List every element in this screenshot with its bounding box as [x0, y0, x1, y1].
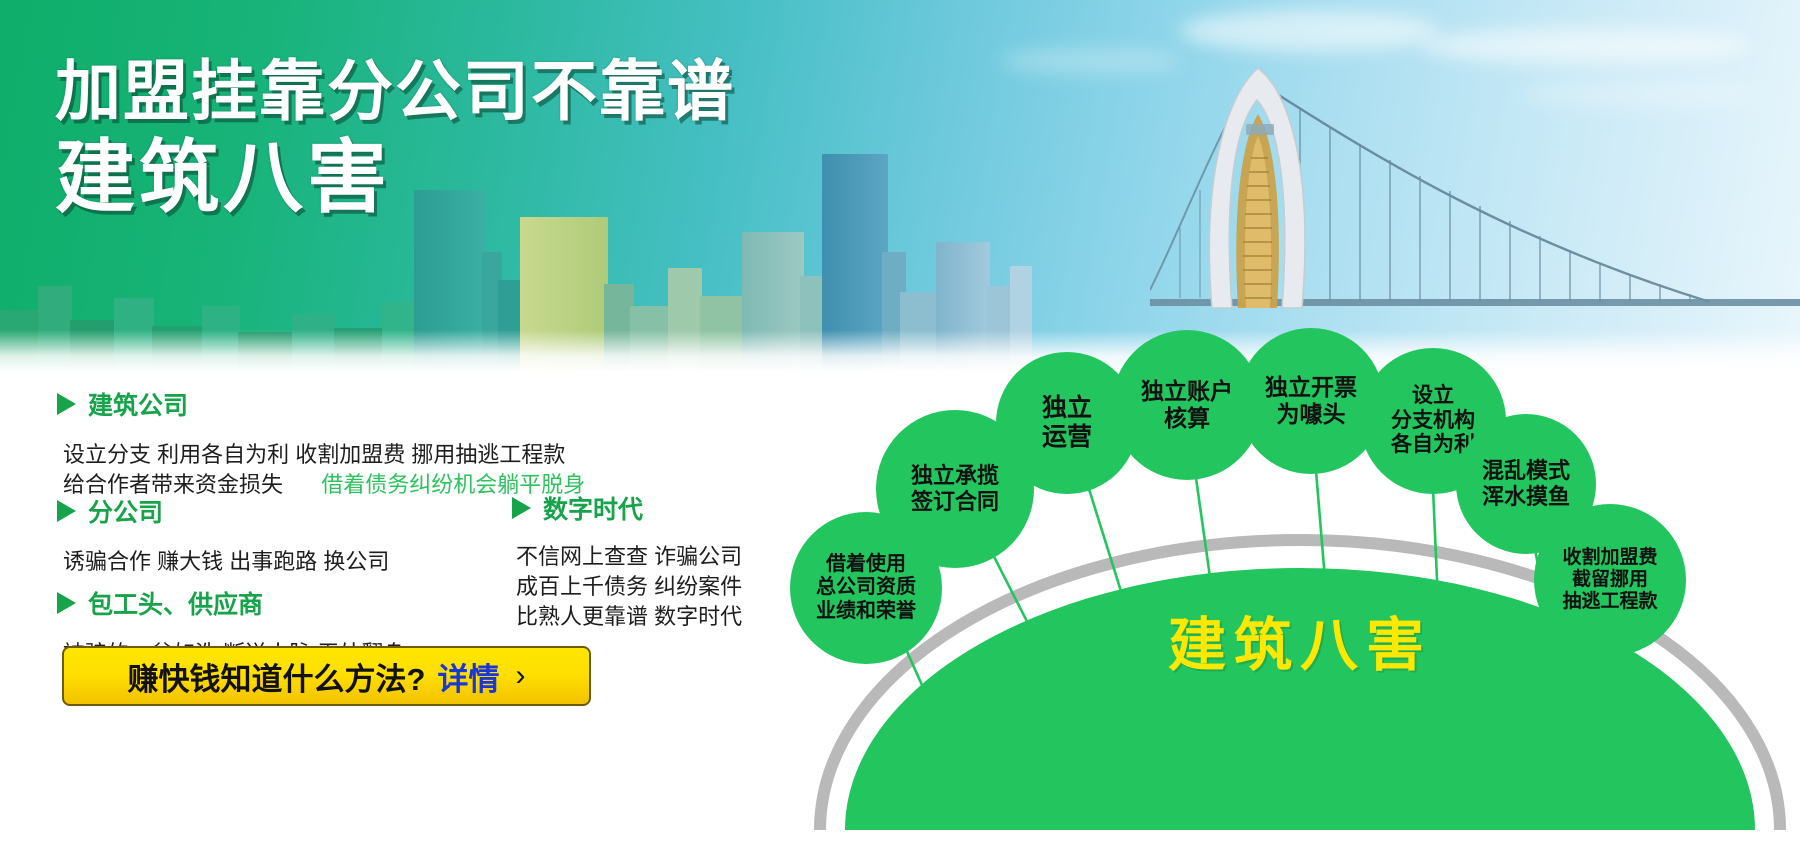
section-body-construction-company: 设立分支 利用各自为利 收割加盟费 挪用抽逃工程款 给合作者带来资金损失 借着债… — [63, 440, 585, 500]
section-heading-digital-era: 数字时代 — [512, 490, 742, 526]
bubble-line: 借着使用 — [826, 553, 906, 576]
bubble-line: 独立账户 — [1141, 378, 1233, 405]
bubble-line: 独立开票 — [1265, 374, 1357, 401]
triangle-bullet-icon — [57, 500, 76, 522]
bubble-line: 收割加盟费 — [1562, 547, 1657, 569]
cta-detail-link[interactable]: 详情 — [437, 654, 499, 699]
promo-banner-page: 加盟挂靠分公司不靠谱 建筑八害 建筑公司 设立分支 利用各自为利 收割加盟费 挪… — [0, 0, 1800, 844]
hero-title-group: 加盟挂靠分公司不靠谱 建筑八害 — [55, 58, 735, 218]
section-construction-company: 建筑公司 设立分支 利用各自为利 收割加盟费 挪用抽逃工程款 给合作者带来资金损… — [57, 386, 585, 500]
cta-button-label: 赚快钱知道什么方法? — [128, 654, 426, 699]
eight-harms-diagram: 借着使用 总公司资质 业绩和荣誉 独立承揽 签订合同 独立 运营 独立账户 核算… — [800, 330, 1800, 844]
bubble-line: 签订合同 — [911, 489, 999, 515]
section-heading-label: 分公司 — [88, 493, 163, 529]
left-content-column: 建筑公司 设立分支 利用各自为利 收割加盟费 挪用抽逃工程款 给合作者带来资金损… — [0, 378, 820, 844]
triangle-bullet-icon — [512, 497, 531, 519]
bubble-line: 混乱模式 — [1482, 458, 1570, 484]
section-heading-branch-company: 分公司 — [57, 493, 389, 529]
section-body-branch-company: 诱骗合作 赚大钱 出事跑路 换公司 — [63, 547, 389, 577]
section-body-digital-era: 不信网上查查 诈骗公司 成百上千债务 纠纷案件 比熟人更靠谱 数字时代 — [516, 542, 742, 632]
body-line: 设立分支 利用各自为利 收割加盟费 挪用抽逃工程款 — [63, 440, 585, 470]
body-line: 不信网上查查 诈骗公司 — [516, 542, 742, 572]
section-heading-label: 数字时代 — [543, 490, 643, 526]
bridge-illustration — [1150, 40, 1800, 340]
cta-button[interactable]: 赚快钱知道什么方法? 详情 › — [62, 646, 591, 706]
body-line: 成百上千债务 纠纷案件 — [516, 572, 742, 602]
section-heading-contractor-supplier: 包工头、供应商 — [57, 585, 405, 621]
triangle-bullet-icon — [57, 393, 76, 415]
section-heading-label: 包工头、供应商 — [88, 585, 263, 621]
section-heading-label: 建筑公司 — [88, 386, 188, 422]
triangle-bullet-icon — [57, 592, 76, 614]
bubble-line: 运营 — [1042, 423, 1092, 452]
section-branch-company: 分公司 诱骗合作 赚大钱 出事跑路 换公司 — [57, 493, 389, 577]
bubble-line: 分支机构 — [1391, 409, 1475, 433]
bubble-line: 核算 — [1164, 405, 1210, 432]
body-line: 比熟人更靠谱 数字时代 — [516, 602, 742, 632]
section-digital-era: 数字时代 不信网上查查 诈骗公司 成百上千债务 纠纷案件 比熟人更靠谱 数字时代 — [512, 490, 742, 632]
bubble-line: 设立 — [1412, 384, 1454, 408]
hero-title-line-2: 建筑八害 — [55, 138, 735, 218]
bubble-line: 截留挪用 — [1572, 569, 1648, 591]
bubble-line: 业绩和荣誉 — [816, 600, 916, 623]
chevron-right-icon: › — [515, 661, 525, 691]
diagram-center-label: 建筑八害 — [980, 598, 1620, 682]
bubble-line: 独立承揽 — [911, 463, 999, 489]
hero-title-line-1: 加盟挂靠分公司不靠谱 — [55, 58, 735, 124]
body-line: 诱骗合作 赚大钱 出事跑路 换公司 — [63, 547, 389, 577]
bubble-line: 总公司资质 — [816, 576, 916, 599]
bubble-line: 为噱头 — [1277, 401, 1346, 428]
bubble-line: 浑水摸鱼 — [1482, 484, 1570, 510]
section-heading-construction-company: 建筑公司 — [57, 386, 585, 422]
bubble-line: 独立 — [1042, 394, 1092, 423]
hero-banner: 加盟挂靠分公司不靠谱 建筑八害 — [0, 0, 1800, 372]
